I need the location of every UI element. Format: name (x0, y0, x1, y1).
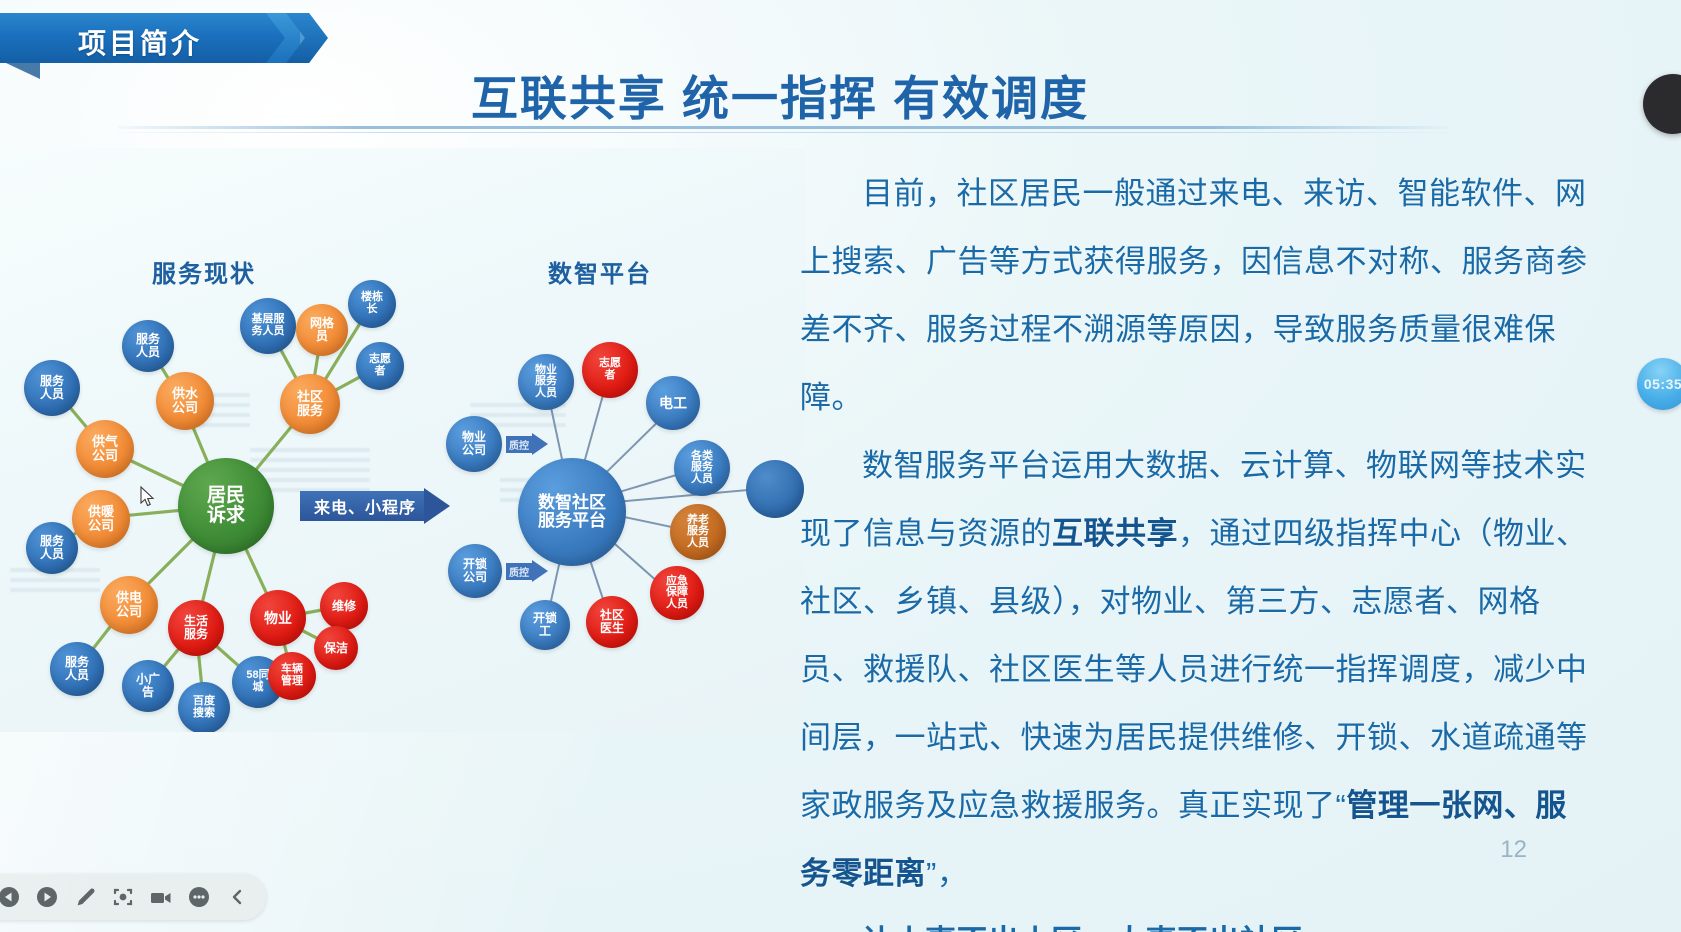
mouse-cursor-icon (140, 486, 156, 508)
decorative-circle (746, 460, 804, 518)
page-title: 互联共享 统一指挥 有效调度 (0, 60, 1560, 129)
floating-toolbar[interactable] (0, 874, 266, 920)
node-baojie[interactable]: 保洁 (314, 626, 358, 670)
right-diagram-title: 数智平台 (548, 254, 652, 289)
node-zhiyuanzhe[interactable]: 志愿 者 (356, 342, 404, 390)
node-xiaoguanggao[interactable]: 小广 告 (122, 660, 174, 712)
node-jumin-susqiu[interactable]: 居民 诉求 (178, 458, 274, 554)
timer-badge[interactable]: 05:35 (1637, 358, 1681, 410)
node-cheliangguanli[interactable]: 车辆 管理 (268, 652, 316, 700)
mini-arrow-label-2: 质控 (506, 563, 532, 580)
paragraph-1: 目前，社区居民一般通过来电、来访、智能软件、网上搜索、广告等方式获得服务，因信息… (800, 160, 1590, 432)
node-diangong[interactable]: 电工 (646, 376, 700, 430)
node-gongnuangongsi[interactable]: 供暖 公司 (72, 490, 130, 548)
emphasis-hulian-gongxiang: 互联共享 (1052, 516, 1178, 551)
mini-arrow-zhikong-1: 质控 (506, 433, 548, 455)
node-wanggeyuan[interactable]: 网格 员 (296, 304, 348, 356)
node-shequyisheng[interactable]: 社区 医生 (586, 596, 638, 648)
node-gongqigongsi[interactable]: 供气 公司 (76, 420, 134, 478)
flow-arrow-laidian: 来电、小程序 (300, 488, 450, 524)
video-camera-icon[interactable] (144, 880, 178, 914)
node-weixiu[interactable]: 维修 (320, 582, 368, 630)
node-wuyefuwurenyuan[interactable]: 物业 服务 人员 (518, 354, 574, 410)
mini-arrow-label-1: 质控 (506, 436, 532, 453)
node-kaisuogongsi[interactable]: 开锁 公司 (448, 544, 502, 598)
pencil-icon[interactable] (68, 880, 102, 914)
previous-icon[interactable] (0, 880, 26, 914)
mini-arrow-head-1 (532, 433, 548, 455)
mini-arrow-head-2 (532, 560, 548, 582)
mini-arrow-zhikong-2: 质控 (506, 560, 548, 582)
section-tag-label: 项目简介 (78, 22, 202, 62)
screenshot-icon[interactable] (106, 880, 140, 914)
paragraph-2: 数智服务平台运用大数据、云计算、物联网等技术实现了信息与资源的互联共享，通过四级… (800, 432, 1590, 908)
camera-bubble[interactable] (1643, 74, 1681, 134)
play-icon[interactable] (30, 880, 64, 914)
node-loudongzhang[interactable]: 楼栋 长 (348, 280, 396, 328)
title-divider (118, 126, 1448, 129)
left-diagram-title: 服务现状 (152, 254, 256, 289)
paragraph-3: 让小事不出小区、大事不出社区。 (800, 908, 1590, 932)
node-yingjibaozhangrenyuan[interactable]: 应急 保障 人员 (650, 566, 704, 620)
node-fuwurenyuan-3[interactable]: 服务 人员 (26, 522, 78, 574)
diagram-panel: 服务现状 服务 人员 服务 人员 服务 人员 服务 人员 基层服 务人员 楼栋 … (0, 148, 806, 732)
node-wuyegongsi[interactable]: 物业 公司 (446, 416, 502, 472)
paragraph-2-part-b: ，通过四级指挥中心（物业、社区、乡镇、县级），对物业、第三方、志愿者、网格员、救… (800, 516, 1588, 823)
flow-arrow-label: 来电、小程序 (300, 491, 424, 521)
section-tag: 项目简介 (0, 13, 340, 63)
node-yanglaofuwurenyuan[interactable]: 养老 服务 人员 (670, 504, 726, 560)
node-shenghuofuwu[interactable]: 生活 服务 (168, 600, 224, 656)
node-gongshuigongsi[interactable]: 供水 公司 (156, 372, 214, 430)
node-zhiyuanzhe-right[interactable]: 志愿 者 (582, 342, 638, 398)
more-options-icon[interactable] (182, 880, 216, 914)
flow-arrow-head (424, 488, 450, 524)
node-shuzhi-shequ-pingtai[interactable]: 数智社区 服务平台 (518, 458, 626, 566)
node-geleifuwurenyuan[interactable]: 各类 服务 人员 (674, 440, 730, 496)
title-divider-secondary (118, 132, 1448, 133)
node-wuye[interactable]: 物业 (250, 590, 306, 646)
node-baidusousuo[interactable]: 百度 搜索 (178, 682, 230, 732)
collapse-icon[interactable] (220, 880, 254, 914)
node-fuwurenyuan-1[interactable]: 服务 人员 (24, 360, 80, 416)
page-number: 12 (1500, 836, 1527, 864)
node-jicengfuwurenyuan[interactable]: 基层服 务人员 (240, 298, 296, 354)
body-text: 目前，社区居民一般通过来电、来访、智能软件、网上搜索、广告等方式获得服务，因信息… (800, 160, 1590, 932)
node-shequfuwu[interactable]: 社区 服务 (280, 374, 340, 434)
paragraph-2-part-c: ”， (926, 856, 968, 891)
node-fuwurenyuan-2[interactable]: 服务 人员 (122, 320, 174, 372)
node-gongdiangongsi[interactable]: 供电 公司 (100, 576, 158, 634)
slide-canvas: 项目简介 互联共享 统一指挥 有效调度 (0, 0, 1681, 932)
node-fuwurenyuan-4[interactable]: 服务 人员 (50, 642, 104, 696)
node-kaisuogong[interactable]: 开锁 工 (520, 600, 570, 650)
